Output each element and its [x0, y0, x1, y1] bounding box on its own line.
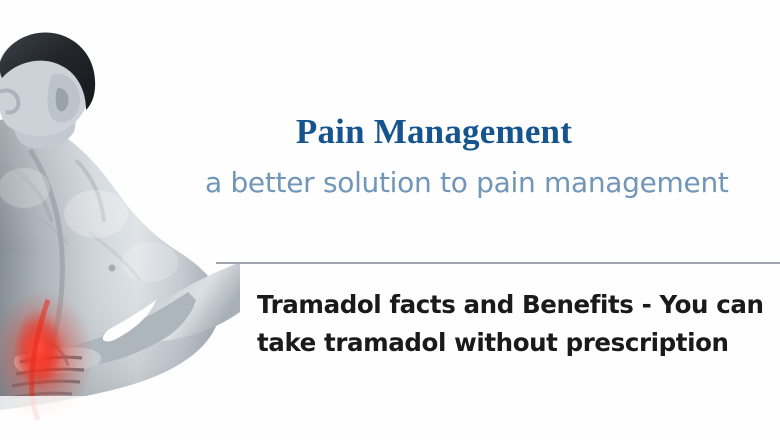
horizontal-divider: [216, 262, 780, 264]
banner-text-region: Pain Management a better solution to pai…: [0, 0, 780, 440]
article-heading: Tramadol facts and Benefits - You can ta…: [257, 286, 780, 362]
article-heading-line-2: take tramadol without prescription: [257, 324, 780, 362]
page-title: Pain Management: [0, 112, 780, 152]
page-subtitle: a better solution to pain management: [205, 166, 780, 199]
article-heading-line-1: Tramadol facts and Benefits - You can: [257, 286, 780, 324]
pain-management-banner: Pain Management a better solution to pai…: [0, 0, 780, 440]
